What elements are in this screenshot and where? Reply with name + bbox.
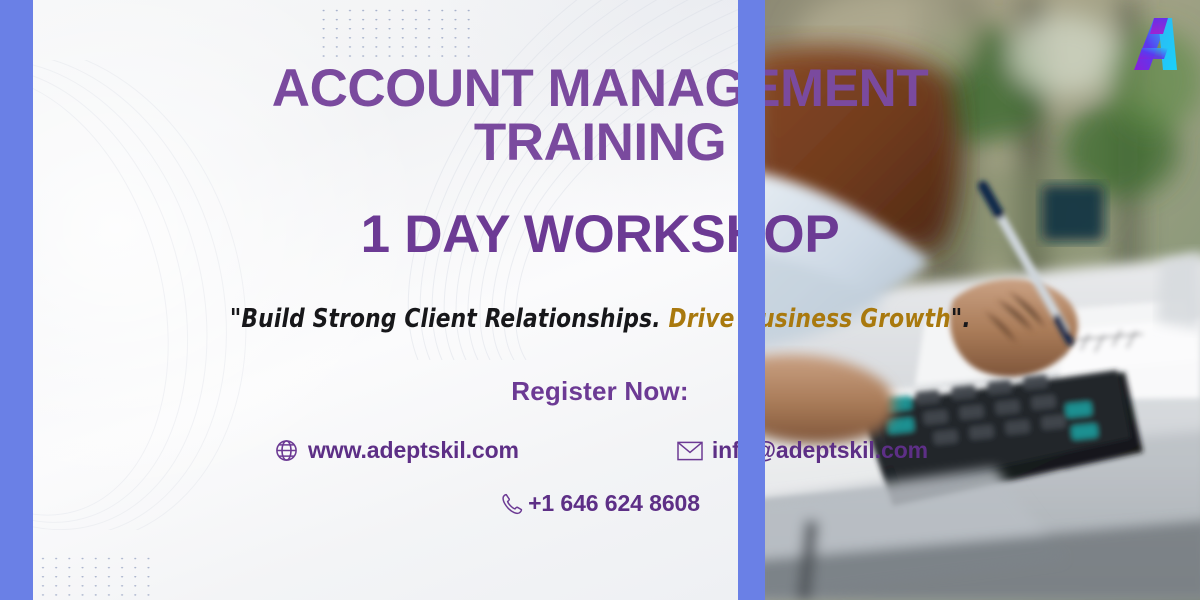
tagline-close-quote: ".	[950, 304, 970, 334]
contact-row: www.adeptskil.com info@adeptskil.com	[250, 437, 950, 464]
phone-text: +1 646 624 8608	[528, 490, 700, 517]
website-text: www.adeptskil.com	[308, 437, 519, 464]
headline-line-1: ACCOUNT MANAGEMENT	[16, 62, 1184, 116]
tagline-gold-text: Drive Business Growth	[668, 304, 950, 334]
subheadline: 1 DAY WORKSHOP	[361, 208, 840, 262]
headline-line-2: TRAINING	[16, 116, 1184, 170]
adeptskil-a-logo-icon	[1128, 14, 1182, 74]
tagline-dark-text: Build Strong Client Relationships.	[241, 304, 668, 334]
phone-row: +1 646 624 8608	[250, 464, 950, 517]
envelope-icon	[677, 440, 703, 462]
brand-logo[interactable]	[1128, 14, 1182, 74]
center-blue-divider	[738, 0, 765, 600]
tagline-open-quote: "	[230, 304, 242, 334]
page-title: ACCOUNT MANAGEMENT TRAINING	[16, 62, 1184, 170]
tagline: "Build Strong Client Relationships. Driv…	[230, 304, 971, 334]
register-label: Register Now:	[511, 376, 688, 407]
panel-content: ACCOUNT MANAGEMENT TRAINING 1 DAY WORKSH…	[0, 0, 1200, 600]
website-contact[interactable]: www.adeptskil.com	[274, 437, 519, 464]
phone-contact[interactable]: +1 646 624 8608	[500, 490, 700, 517]
phone-icon	[500, 492, 524, 516]
globe-icon	[274, 438, 299, 463]
left-blue-stripe	[0, 0, 33, 600]
email-contact[interactable]: info@adeptskil.com	[677, 437, 928, 464]
event-banner: ACCOUNT MANAGEMENT TRAINING 1 DAY WORKSH…	[0, 0, 1200, 600]
